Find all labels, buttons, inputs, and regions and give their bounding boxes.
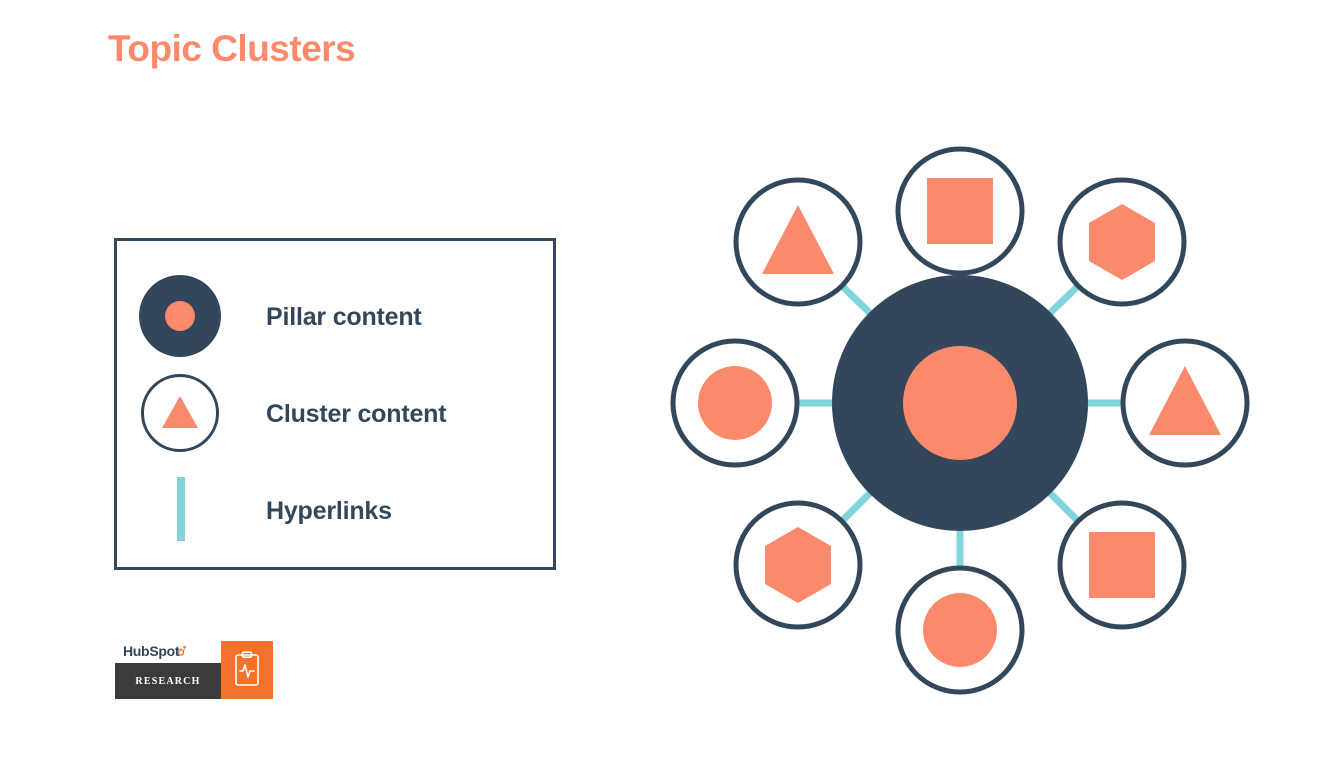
research-label: RESEARCH [115, 663, 221, 699]
pillar-swatch-inner-circle-icon [165, 301, 195, 331]
legend-item-pillar-content: Pillar content [117, 269, 553, 365]
cluster-content-swatch [117, 366, 221, 462]
hubspot-wordmark: HubSpot [123, 643, 179, 659]
hubspot-research-logo: HubSpot RESEARCH [115, 641, 270, 699]
cluster-node-left-circle-icon [698, 366, 772, 440]
hyperlink-bar-icon [177, 477, 185, 541]
clipboard-pulse-icon [234, 651, 260, 687]
cluster-node-bottom-right-square-icon [1089, 532, 1155, 598]
cluster-node-left [673, 341, 797, 465]
hyperlinks-swatch [117, 463, 221, 559]
legend-label-cluster-content: Cluster content [266, 400, 446, 429]
cluster-node-bottom [898, 568, 1022, 692]
pillar-hub-inner-circle [903, 346, 1017, 460]
cluster-node-top [898, 149, 1022, 273]
hyperlink-connector-bottom-left [843, 493, 870, 520]
topic-cluster-diagram [640, 80, 1280, 720]
legend-item-cluster-content: Cluster content [117, 366, 553, 462]
page-title: Topic Clusters [108, 28, 355, 70]
legend-label-hyperlinks: Hyperlinks [266, 497, 392, 526]
pillar-content-hub [832, 275, 1088, 531]
legend-item-hyperlinks: Hyperlinks [117, 463, 553, 559]
cluster-node-top-left [736, 180, 860, 304]
cluster-node-bottom-circle-icon [923, 593, 997, 667]
hubspot-sprocket-icon [175, 645, 187, 657]
cluster-node-bottom-left [736, 503, 860, 627]
hyperlink-connector-bottom-right [1050, 493, 1077, 520]
pillar-content-swatch [117, 269, 221, 365]
hyperlink-connector-top-right [1050, 287, 1077, 313]
cluster-node-top-square-icon [927, 178, 993, 244]
research-band: RESEARCH [115, 663, 221, 699]
legend-label-pillar-content: Pillar content [266, 303, 422, 332]
hyperlink-connector-top-left [843, 287, 870, 313]
cluster-node-bottom-right [1060, 503, 1184, 627]
cluster-swatch-triangle-icon [162, 396, 198, 428]
cluster-node-right [1123, 341, 1247, 465]
legend-panel: Pillar content Cluster content Hyperlink… [114, 238, 556, 570]
research-tile [221, 641, 273, 699]
cluster-node-top-right [1060, 180, 1184, 304]
